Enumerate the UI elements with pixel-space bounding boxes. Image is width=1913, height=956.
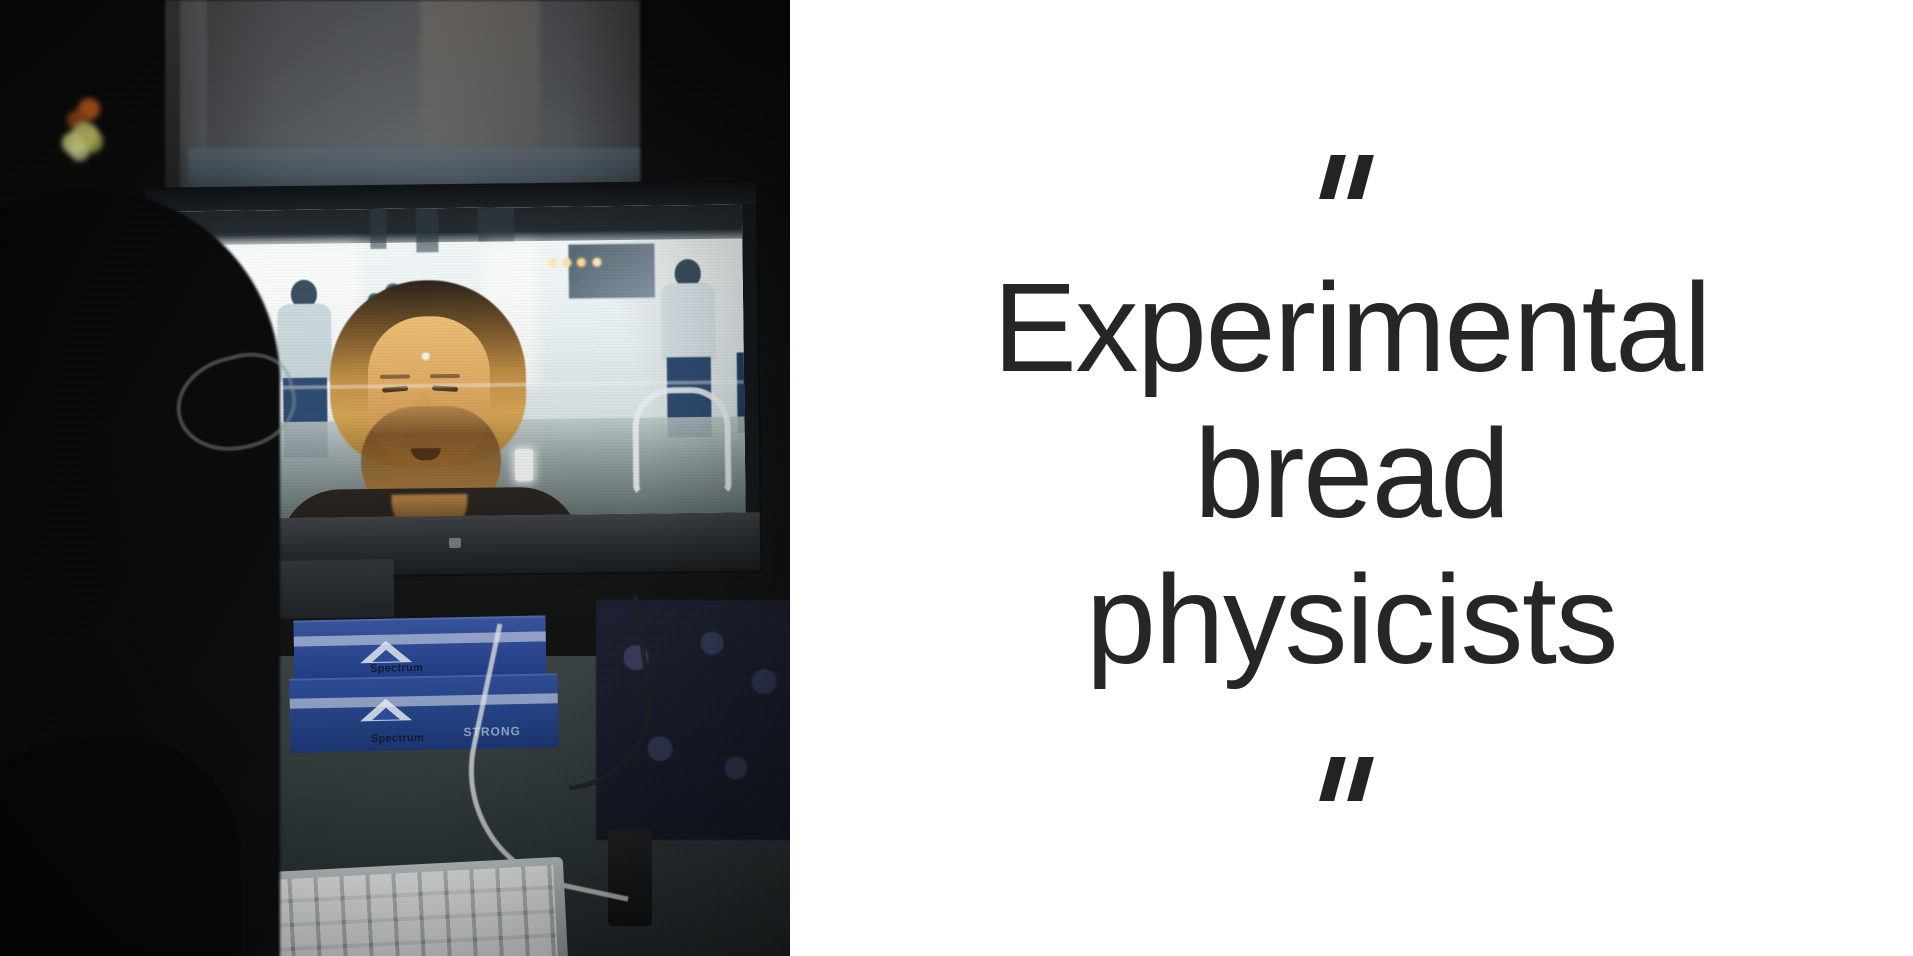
photograph: Spectrum Spectrum STRONG bbox=[0, 0, 790, 956]
wall-warm-patch bbox=[420, 0, 540, 170]
box-brand-label: Spectrum bbox=[371, 732, 424, 745]
quote-line-1: Experimental bbox=[993, 255, 1710, 401]
video-call-participant bbox=[311, 279, 544, 520]
scene-chair bbox=[632, 387, 731, 496]
quote-line-3: physicists bbox=[993, 547, 1710, 693]
scene-shelf bbox=[568, 244, 655, 299]
scene-lights bbox=[546, 254, 606, 271]
quote-card: Spectrum Spectrum STRONG bbox=[0, 0, 1913, 956]
box-brand-label: Spectrum bbox=[370, 662, 423, 675]
background-person bbox=[726, 254, 745, 441]
box-chevron-icon bbox=[359, 640, 411, 663]
box-chevron-icon bbox=[359, 698, 411, 721]
quote-line-2: bread bbox=[993, 401, 1710, 547]
bokeh-lights-icon bbox=[60, 98, 122, 166]
open-quote-mark-icon bbox=[1321, 155, 1383, 199]
monitor-logo-icon bbox=[449, 538, 461, 548]
scene-ceiling bbox=[160, 204, 742, 245]
monitor-stand bbox=[274, 559, 395, 618]
photo-panel: Spectrum Spectrum STRONG bbox=[0, 0, 790, 956]
scene-pillar bbox=[416, 208, 439, 252]
quote-panel: Experimental bread physicists bbox=[790, 0, 1913, 956]
pull-quote-text: Experimental bread physicists bbox=[993, 255, 1710, 693]
scene-pillar bbox=[478, 207, 514, 241]
close-quote-mark-icon bbox=[1321, 757, 1383, 801]
scene-pillar bbox=[370, 209, 386, 249]
